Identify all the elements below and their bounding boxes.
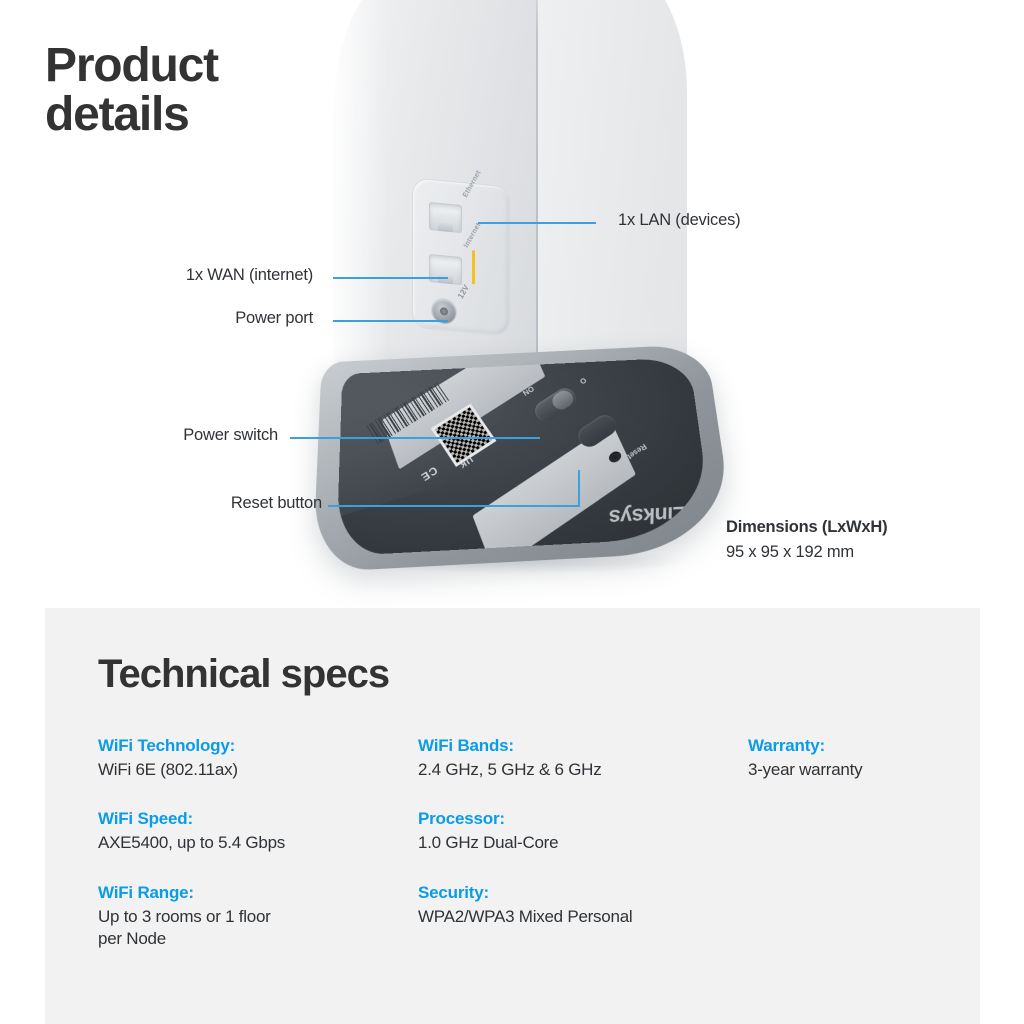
router-body-edge	[536, 0, 538, 380]
callout-label-power-switch: Power switch	[183, 426, 278, 445]
spec-value: WiFi 6E (802.11ax)	[98, 759, 418, 781]
switch-off-mark: O	[578, 376, 588, 386]
spec-value: 1.0 GHz Dual-Core	[418, 832, 748, 854]
linksys-logo: Linksys	[609, 500, 686, 529]
router-base-underside: CE UK ON O Reset Linksys	[336, 357, 714, 556]
leader-line-reset-horizontal	[328, 505, 580, 507]
spec-label: Security:	[418, 883, 748, 903]
specs-column-2: WiFi Bands: 2.4 GHz, 5 GHz & 6 GHz Proce…	[418, 736, 748, 979]
spec-value: WPA2/WPA3 Mixed Personal	[418, 906, 748, 928]
leader-line-power-port	[333, 320, 448, 322]
spec-label: WiFi Technology:	[98, 736, 418, 756]
spec-value: 3-year warranty	[748, 759, 958, 781]
leader-line-wan	[333, 277, 448, 279]
spec-item: Warranty: 3-year warranty	[748, 736, 958, 781]
lan-port	[429, 202, 462, 233]
technical-specs-panel: Technical specs WiFi Technology: WiFi 6E…	[45, 608, 980, 1024]
spec-item: WiFi Speed: AXE5400, up to 5.4 Gbps	[98, 809, 418, 854]
spec-label: Warranty:	[748, 736, 958, 756]
dimensions-block: Dimensions (LxWxH) 95 x 95 x 192 mm	[726, 518, 887, 562]
page-title: Product details	[45, 42, 405, 140]
spec-item: WiFi Technology: WiFi 6E (802.11ax)	[98, 736, 418, 781]
leader-line-power-switch	[290, 437, 540, 439]
callout-label-power-port: Power port	[235, 309, 313, 328]
spec-item: WiFi Range: Up to 3 rooms or 1 floor per…	[98, 883, 418, 951]
spec-label: Processor:	[418, 809, 748, 829]
spec-label: WiFi Speed:	[98, 809, 418, 829]
specs-column-1: WiFi Technology: WiFi 6E (802.11ax) WiFi…	[98, 736, 418, 979]
spec-value: AXE5400, up to 5.4 Gbps	[98, 832, 418, 854]
specs-column-3: Warranty: 3-year warranty	[748, 736, 958, 979]
dimensions-title: Dimensions (LxWxH)	[726, 518, 887, 537]
leader-line-lan	[478, 222, 596, 224]
wan-port	[429, 254, 462, 285]
dimensions-value: 95 x 95 x 192 mm	[726, 543, 887, 562]
spec-value: Up to 3 rooms or 1 floor per Node	[98, 906, 418, 951]
spec-item: WiFi Bands: 2.4 GHz, 5 GHz & 6 GHz	[418, 736, 748, 781]
callout-label-lan: 1x LAN (devices)	[618, 211, 740, 230]
router-port-panel: Ethernet Internet 12V	[413, 178, 509, 335]
internet-caption: Internet	[463, 222, 482, 249]
specs-grid: WiFi Technology: WiFi 6E (802.11ax) WiFi…	[98, 736, 958, 979]
spec-item: Security: WPA2/WPA3 Mixed Personal	[418, 883, 748, 928]
spec-value: 2.4 GHz, 5 GHz & 6 GHz	[418, 759, 748, 781]
callout-label-reset-button: Reset button	[231, 494, 322, 513]
spec-label: WiFi Bands:	[418, 736, 748, 756]
internet-port-indicator	[472, 250, 475, 284]
leader-line-reset-vertical	[578, 470, 580, 507]
reset-caption: Reset	[626, 442, 649, 461]
router-base: CE UK ON O Reset Linksys	[318, 345, 722, 565]
power-caption: 12V	[456, 283, 471, 301]
spec-label: WiFi Range:	[98, 883, 418, 903]
callout-label-wan: 1x WAN (internet)	[186, 266, 313, 285]
spec-item: Processor: 1.0 GHz Dual-Core	[418, 809, 748, 854]
technical-specs-heading: Technical specs	[98, 652, 389, 697]
